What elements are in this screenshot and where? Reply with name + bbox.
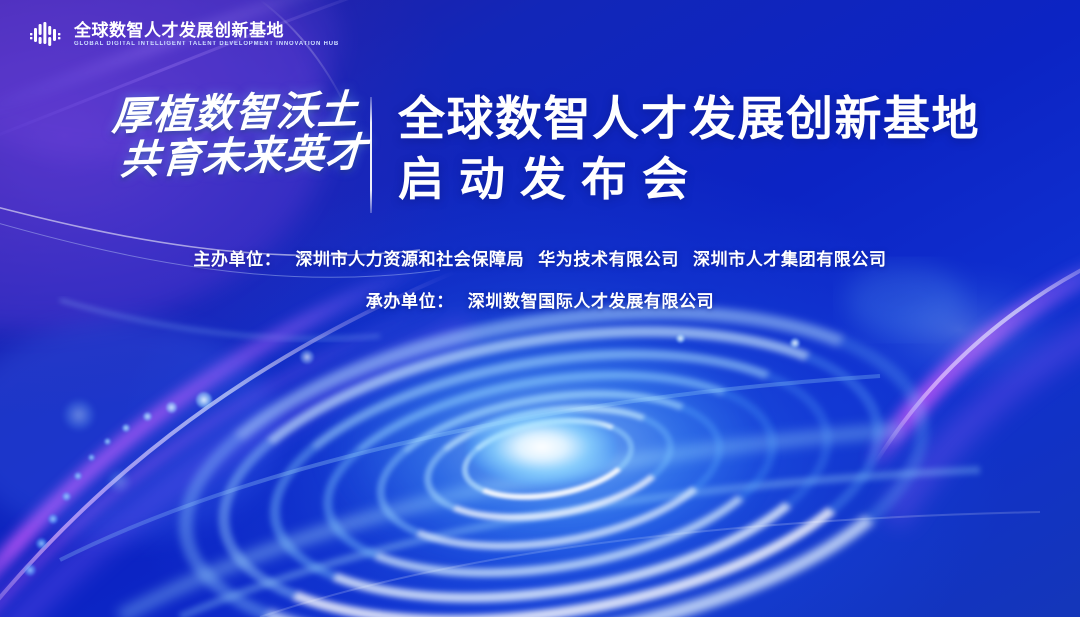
host-organizer-line: 主办单位：深圳市人力资源和社会保障局华为技术有限公司深圳市人才集团有限公司 [0, 250, 1080, 270]
brand-logo-lockup: 全球数智人才发展创新基地 GLOBAL DIGITAL INTELLIGENT … [30, 22, 342, 48]
coorganizer-line: 承办单位：深圳数智国际人才发展有限公司 [0, 292, 1080, 312]
organizer-block: 主办单位：深圳市人力资源和社会保障局华为技术有限公司深圳市人才集团有限公司 承办… [0, 250, 1080, 313]
brand-name-en: GLOBAL DIGITAL INTELLIGENT TALENT DEVELO… [74, 41, 339, 48]
event-title-main: 全球数智人才发展创新基地 [398, 92, 980, 146]
calligraphy-slogan: 厚植数智沃土 共育未来英才 [112, 96, 352, 183]
host-label: 主办单位： [193, 250, 281, 270]
title-block: 全球数智人才发展创新基地 启动发布会 [398, 92, 980, 207]
brand-logo-text: 全球数智人才发展创新基地 GLOBAL DIGITAL INTELLIGENT … [74, 22, 342, 47]
coorganizer-name: 深圳数智国际人才发展有限公司 [468, 292, 714, 312]
brand-name-cn: 全球数智人才发展创新基地 [74, 22, 342, 40]
host-name: 深圳市人力资源和社会保障局 [295, 250, 524, 270]
event-title-sub: 启动发布会 [398, 152, 980, 207]
host-name: 深圳市人才集团有限公司 [693, 250, 887, 270]
host-name: 华为技术有限公司 [538, 250, 679, 270]
equalizer-bars-icon [30, 22, 64, 48]
coorganizer-label: 承办单位： [366, 292, 454, 312]
slogan-line-2: 共育未来英才 [119, 133, 354, 183]
event-backdrop: 全球数智人才发展创新基地 GLOBAL DIGITAL INTELLIGENT … [0, 0, 1080, 617]
title-divider [370, 97, 372, 213]
